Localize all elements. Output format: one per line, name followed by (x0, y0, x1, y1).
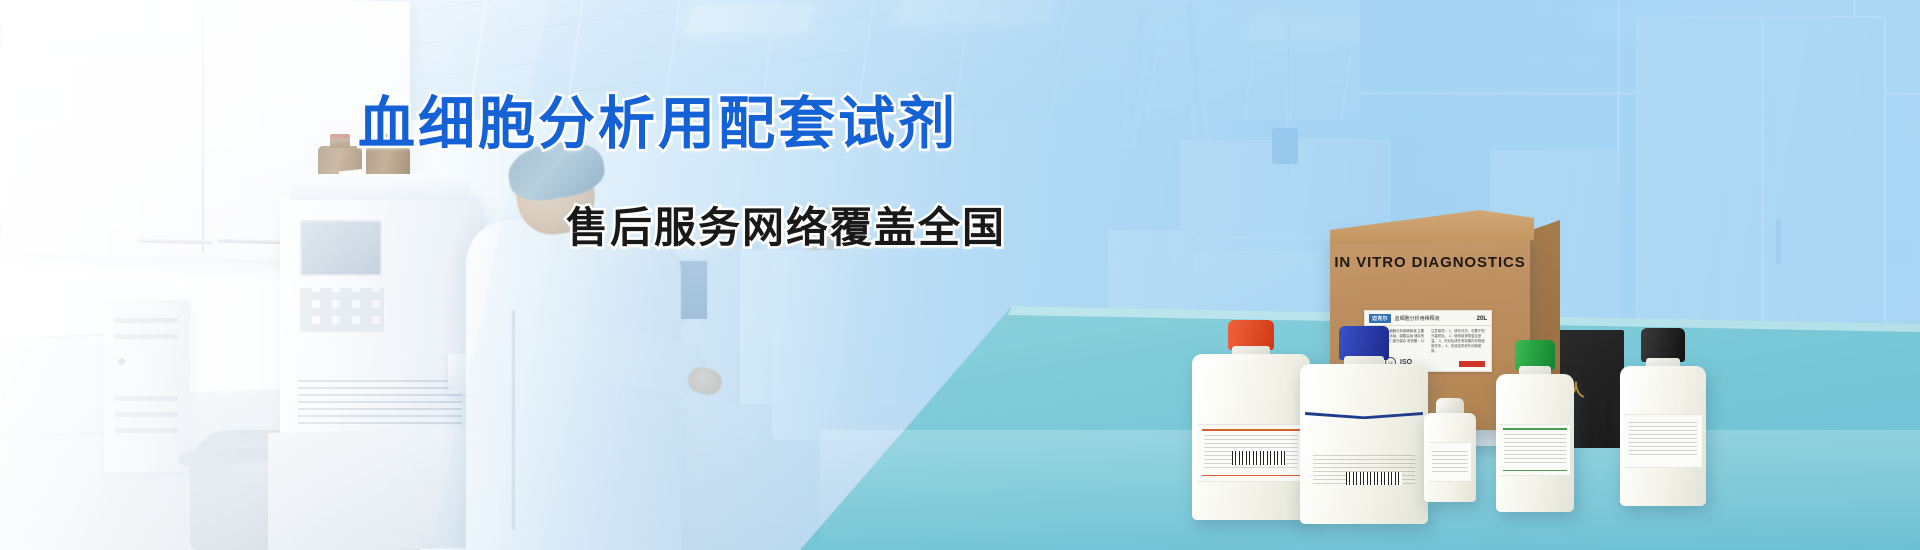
bottle-label (1429, 442, 1471, 482)
bottle-green-cap (1496, 340, 1574, 512)
label-rule (1202, 475, 1300, 477)
label-text-lines (1432, 448, 1469, 472)
label-rule (1202, 429, 1300, 431)
bottle-black-cap (1620, 328, 1706, 506)
label-red-band (1459, 361, 1485, 367)
bottle-body (1300, 364, 1428, 524)
barcode (1232, 451, 1286, 465)
bottle-white-small (1424, 398, 1476, 502)
label-volume: 20L (1477, 316, 1487, 322)
bottle-blue-cap (1300, 326, 1428, 524)
bottle-label (1306, 446, 1422, 496)
label-rule (1503, 470, 1567, 472)
product-group: 人 IN VITRO DIAGNOSTICS 迈克尔 血细胞分析用稀释液 20L… (0, 0, 1920, 550)
label-rule (1503, 428, 1567, 430)
label-header: 迈克尔 血细胞分析用稀释液 20L (1365, 311, 1491, 326)
carton-top-flap (1330, 210, 1534, 244)
barcode (1346, 472, 1402, 485)
bottle-label (1198, 424, 1304, 482)
bottle-label (1500, 424, 1570, 476)
label-text-lines (1629, 422, 1698, 454)
bottle-cap-blue (1339, 326, 1389, 360)
bottle-red-cap (1192, 320, 1310, 520)
bottle-cap-black (1641, 328, 1685, 362)
promo-banner: 人 IN VITRO DIAGNOSTICS 迈克尔 血细胞分析用稀释液 20L… (0, 0, 1920, 550)
carton-print-text: IN VITRO DIAGNOSTICS (1330, 254, 1530, 271)
label-product-name: 血细胞分析用稀释液 (1395, 315, 1473, 322)
bottle-label (1624, 414, 1702, 468)
label-text-lines (1504, 432, 1566, 463)
label-right-column: 注意事项： 1、请勿冷冻、勿置于阳光直射处。 2、使用前请恢复至室温。 3、开封… (1431, 329, 1487, 355)
label-brand: 迈克尔 (1369, 314, 1391, 323)
